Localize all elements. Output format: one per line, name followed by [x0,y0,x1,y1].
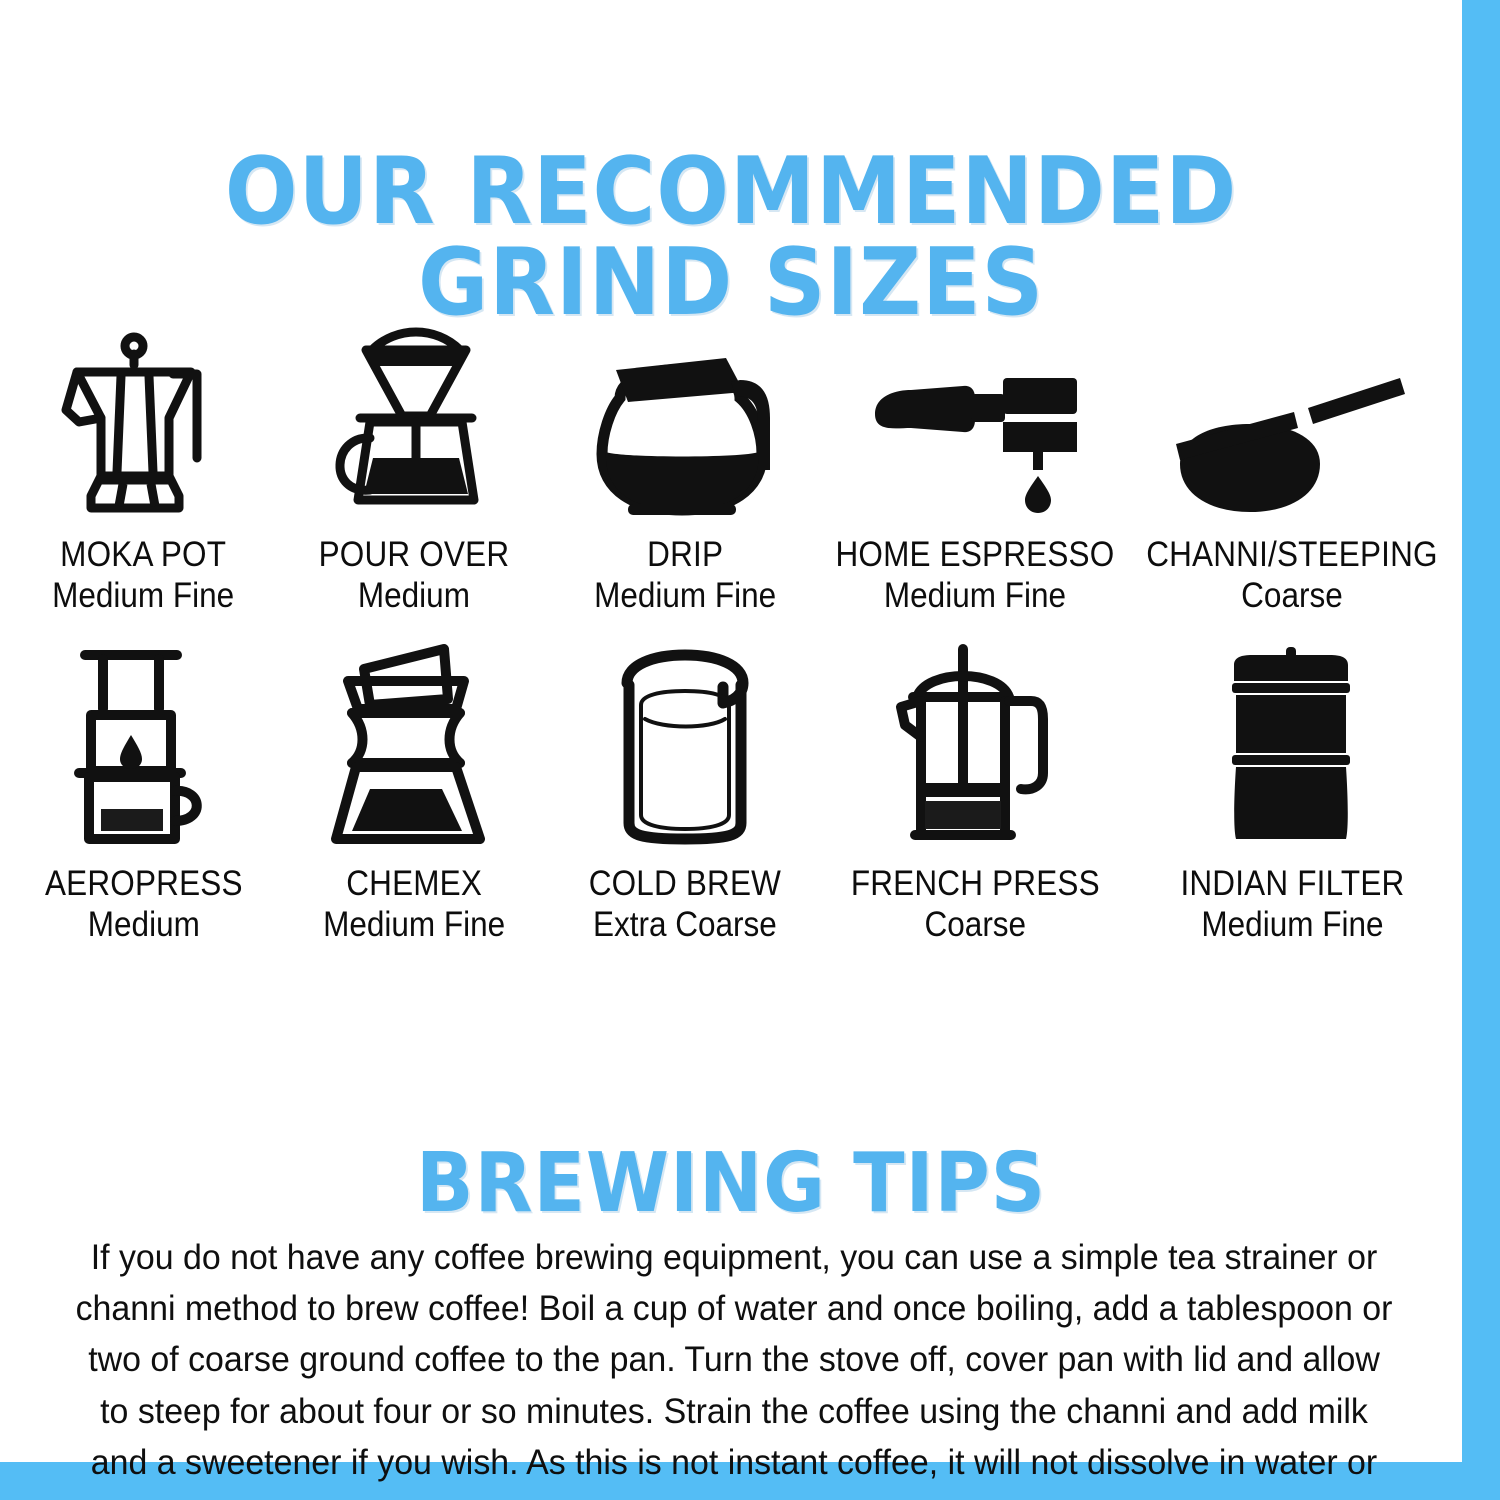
method-grind: Coarse [1146,575,1438,616]
method-name: CHEMEX [323,863,505,904]
moka-pot-icon [55,312,231,518]
mason-jar-icon [611,641,759,847]
method-card-aeropress: AEROPRESS Medium [8,641,279,946]
method-grind: Medium [45,904,243,945]
method-grind: Medium Fine [52,575,234,616]
method-card-channi-steeping: CHANNI/STEEPING Coarse [1130,312,1454,617]
method-card-chemex: CHEMEX Medium Fine [279,641,550,946]
method-card-drip: DRIP Medium Fine [549,312,820,617]
method-name: DRIP [594,534,776,575]
method-grind: Extra Coarse [589,904,781,945]
method-card-moka-pot: MOKA POT Medium Fine [8,312,279,617]
method-grind: Medium Fine [323,904,505,945]
brewing-tips-title: BREWING TIPS [58,1144,1403,1224]
method-card-home-espresso: HOME ESPRESSO Medium Fine [820,312,1130,617]
method-labels: HOME ESPRESSO Medium Fine [820,534,1130,617]
brewing-tips-paragraph: If you do not have any coffee brewing eq… [75,1232,1393,1500]
method-name: AEROPRESS [45,863,243,904]
grind-size-infographic: OUR RECOMMENDED GRIND SIZES [0,0,1500,1500]
method-card-french-press: FRENCH PRESS Coarse [820,641,1130,946]
drip-carafe-icon [592,312,778,518]
method-card-cold-brew: COLD BREW Extra Coarse [549,641,820,946]
pour-over-icon [326,312,502,518]
method-labels: CHANNI/STEEPING Coarse [1130,534,1454,617]
portafilter-icon [867,312,1083,518]
page-title: OUR RECOMMENDED GRIND SIZES [58,146,1403,328]
method-grind: Medium Fine [836,575,1115,616]
method-grind: Coarse [851,904,1100,945]
method-labels: MOKA POT Medium Fine [42,534,244,617]
chemex-icon [330,641,498,847]
method-name: CHANNI/STEEPING [1146,534,1438,575]
method-grind: Medium Fine [1180,904,1404,945]
method-name: INDIAN FILTER [1180,863,1404,904]
method-grind: Medium [319,575,510,616]
right-edge-accent-bar [1462,0,1500,1500]
indian-filter-icon [1216,641,1368,847]
strainer-icon [1172,312,1412,518]
french-press-icon [891,641,1059,847]
method-labels: FRENCH PRESS Coarse [837,863,1114,946]
method-name: HOME ESPRESSO [836,534,1115,575]
method-labels: DRIP Medium Fine [584,534,786,617]
method-labels: INDIAN FILTER Medium Fine [1168,863,1417,946]
method-labels: POUR OVER Medium [308,534,520,617]
method-card-indian-filter: INDIAN FILTER Medium Fine [1130,641,1454,946]
method-name: COLD BREW [589,863,781,904]
method-name: FRENCH PRESS [851,863,1100,904]
aeropress-icon [63,641,223,847]
method-labels: CHEMEX Medium Fine [313,863,515,946]
method-name: MOKA POT [52,534,234,575]
method-name: POUR OVER [319,534,510,575]
method-card-pour-over: POUR OVER Medium [279,312,550,617]
method-labels: COLD BREW Extra Coarse [578,863,792,946]
method-labels: AEROPRESS Medium [34,863,254,946]
method-grind: Medium Fine [594,575,776,616]
brew-methods-grid: MOKA POT Medium Fine [8,312,1454,945]
